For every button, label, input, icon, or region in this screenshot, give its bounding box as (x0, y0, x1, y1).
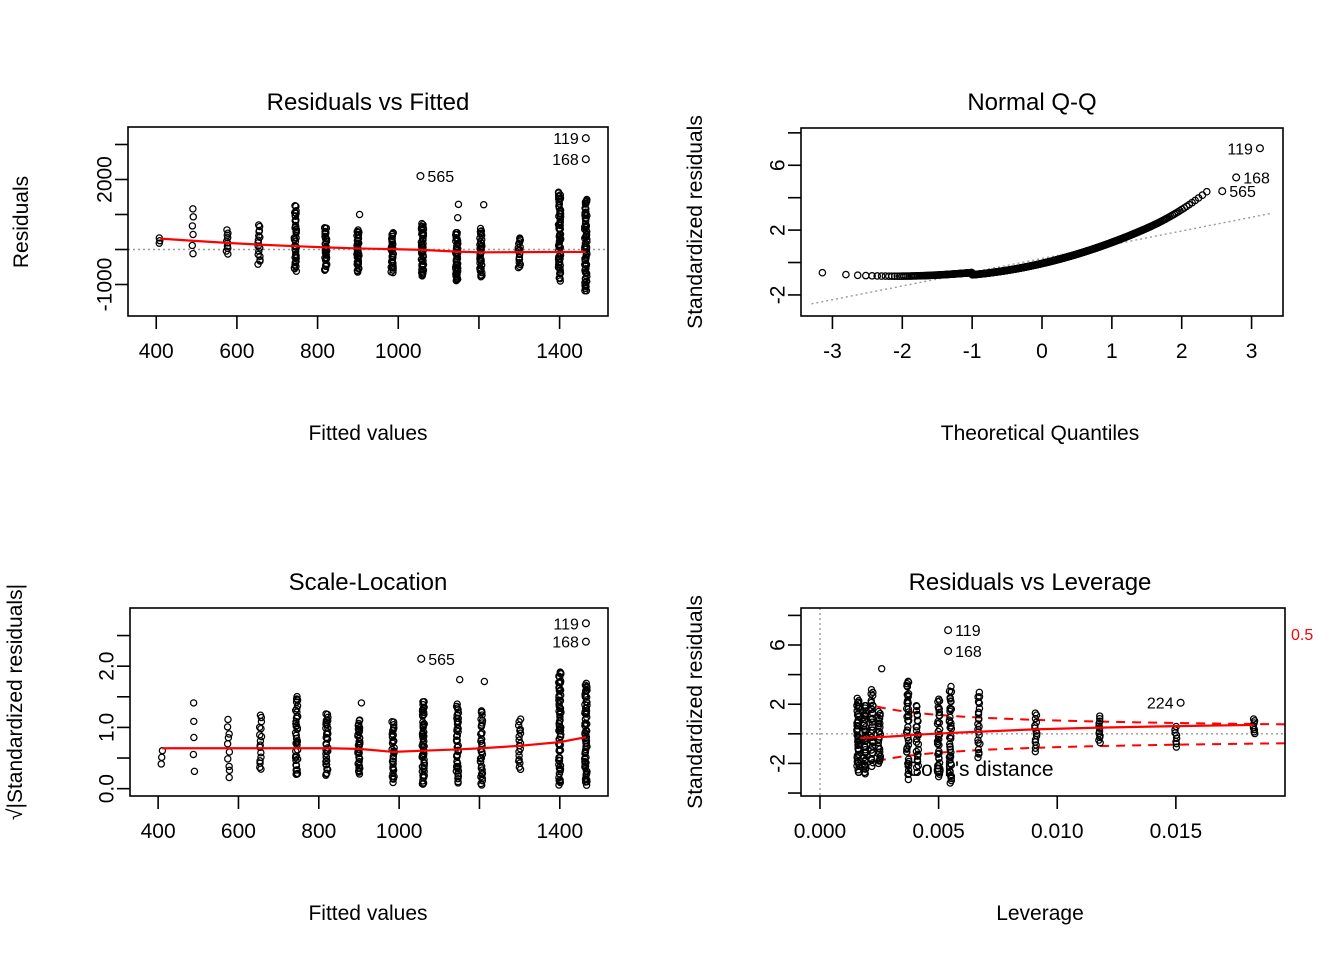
data-point (226, 774, 232, 780)
y-axis-label: √|Standardized residuals| (4, 584, 27, 820)
x-tick-label: 400 (139, 340, 174, 363)
plot-title: Residuals vs Fitted (267, 89, 470, 116)
plot-area: 119168565 (811, 141, 1272, 304)
plot-frame (801, 128, 1283, 316)
plot-frame (130, 608, 608, 796)
diagnostic-plot-figure: Residuals vs Fitted 119168565 4006008001… (0, 0, 1344, 960)
data-point (417, 173, 424, 180)
x-tick-label: -2 (893, 340, 912, 363)
outlier-label: 565 (1229, 184, 1256, 201)
x-axis-label: Theoretical Quantiles (941, 422, 1139, 445)
data-point (226, 749, 232, 755)
data-point (582, 156, 589, 163)
data-point (190, 251, 196, 257)
x-tick-label: 0.015 (1150, 820, 1203, 843)
x-tick-label: 800 (301, 820, 336, 843)
axes-group: 400600800100014000.01.02.0 (96, 636, 584, 843)
x-tick-label: 400 (141, 820, 176, 843)
plot-title: Residuals vs Leverage (909, 569, 1152, 596)
data-point (1177, 699, 1184, 706)
data-point (1257, 145, 1264, 152)
data-point (455, 215, 461, 221)
y-tick-label: 2000 (94, 156, 117, 203)
y-axis-label: Residuals (10, 176, 33, 268)
plot-title: Scale-Location (289, 569, 448, 596)
data-point (582, 135, 589, 142)
data-point (1233, 174, 1240, 181)
data-point (158, 761, 164, 767)
plot-frame (128, 127, 608, 316)
y-tick-label: 1.0 (96, 713, 119, 742)
data-point (481, 678, 487, 684)
panel-scale-location: Scale-Location 119168565 400600800100014… (0, 480, 672, 960)
x-tick-label: 600 (221, 820, 256, 843)
x-axis-label: Leverage (996, 902, 1084, 925)
plot-title: Normal Q-Q (967, 89, 1096, 116)
y-tick-label: -2 (767, 754, 790, 773)
x-tick-label: 0 (1036, 340, 1048, 363)
x-tick-label: 0.010 (1031, 820, 1084, 843)
y-tick-label: -1000 (94, 258, 117, 312)
data-point (226, 763, 232, 769)
cooks-distance-legend: Cook's distance (906, 758, 1054, 781)
x-tick-label: 1400 (536, 820, 583, 843)
axes-group: -3-2-10123-226 (767, 133, 1258, 363)
y-tick-label: 2 (767, 224, 790, 236)
x-tick-label: 0.005 (912, 820, 965, 843)
x-tick-label: -3 (823, 340, 842, 363)
x-tick-label: 1400 (536, 340, 583, 363)
data-point (945, 648, 952, 655)
y-tick-label: 0.0 (96, 774, 119, 803)
outlier-label: 168 (552, 152, 579, 169)
y-tick-label: 6 (767, 639, 790, 651)
x-tick-label: 800 (300, 340, 335, 363)
data-point (189, 242, 195, 248)
outlier-label: 224 (1147, 696, 1174, 713)
data-point (583, 620, 590, 627)
outlier-label: 119 (955, 623, 981, 640)
x-tick-label: -1 (963, 340, 982, 363)
data-point (225, 741, 231, 747)
data-point (481, 202, 487, 208)
data-point (945, 627, 952, 634)
data-point (191, 768, 197, 774)
y-tick-label: 2.0 (96, 652, 119, 681)
outlier-label: 565 (427, 169, 454, 186)
axes-group: 40060080010001400-10002000 (94, 145, 583, 364)
plot-title-group: Residuals vs Fitted (267, 89, 470, 116)
panel-normal-qq: Normal Q-Q 119168565 -3-2-10123-226 Theo… (672, 0, 1344, 480)
axes-group: 0.0000.0050.0100.015-226 (767, 615, 1203, 843)
data-point (190, 206, 196, 212)
data-point (819, 270, 825, 276)
data-point (190, 231, 196, 237)
y-axis-label: Standardized residuals (684, 115, 707, 329)
qq-reference-line (811, 213, 1272, 304)
outlier-label: 119 (553, 131, 579, 148)
x-axis-label: Fitted values (308, 902, 427, 925)
data-point (356, 211, 362, 217)
outlier-label: 119 (553, 616, 579, 633)
outlier-label: 168 (552, 635, 579, 652)
data-point (225, 756, 231, 762)
outlier-label: 119 (1227, 141, 1253, 158)
x-tick-label: 2 (1176, 340, 1188, 363)
y-axis-label: Standardized residuals (684, 595, 707, 809)
data-point (191, 700, 197, 706)
data-point (191, 734, 197, 740)
data-point (224, 724, 230, 730)
data-point (191, 718, 197, 724)
x-tick-label: 1000 (376, 820, 423, 843)
plot-area: 119168565 (158, 616, 590, 788)
plot-area: 119168565 (128, 131, 608, 294)
cook-contour-value-label: 0.5 (1291, 627, 1313, 644)
data-point (159, 754, 165, 760)
panel-residuals-vs-fitted: Residuals vs Fitted 119168565 4006008001… (0, 0, 672, 480)
x-tick-label: 3 (1246, 340, 1258, 363)
x-tick-label: 0.000 (794, 820, 847, 843)
data-point (478, 716, 484, 722)
data-point (418, 655, 425, 662)
x-tick-label: 1 (1106, 340, 1118, 363)
y-tick-label: 2 (767, 698, 790, 710)
data-point (1204, 189, 1210, 195)
data-point (1219, 188, 1226, 195)
data-point (457, 677, 463, 683)
data-point (843, 271, 849, 277)
data-point (257, 738, 263, 744)
y-tick-label: 6 (767, 159, 790, 171)
data-point (358, 700, 364, 706)
x-tick-label: 600 (219, 340, 254, 363)
x-axis-label: Fitted values (308, 422, 427, 445)
panel-residuals-vs-leverage: Residuals vs Leverage 119168224 0.0000.0… (672, 480, 1344, 960)
data-point (189, 223, 195, 229)
data-point (190, 751, 196, 757)
data-point (226, 731, 232, 737)
x-tick-label: 1000 (375, 340, 422, 363)
data-point (855, 272, 861, 278)
data-point (190, 214, 196, 220)
data-point (225, 716, 231, 722)
outlier-label: 565 (428, 652, 455, 669)
data-point (583, 638, 590, 645)
y-tick-label: -2 (767, 286, 790, 305)
data-point (863, 272, 869, 278)
data-point (879, 666, 885, 672)
outlier-label: 168 (955, 644, 982, 661)
data-point (455, 201, 461, 207)
y-axis-label-group: √|Standardized residuals| (4, 584, 27, 820)
